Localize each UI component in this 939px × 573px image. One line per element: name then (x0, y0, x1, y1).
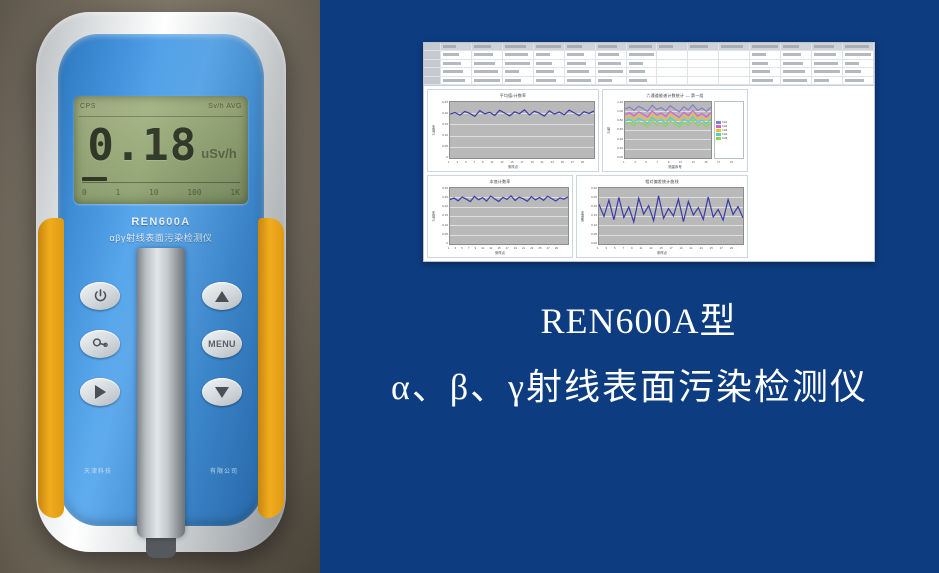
spreadsheet-cell (657, 68, 688, 75)
chart-y-tick: 0.20 (442, 112, 448, 115)
spreadsheet-cell (472, 68, 503, 75)
chart-x-axis-label: 测量序号 (603, 164, 747, 171)
lcd-scale-tick: 1 (115, 188, 120, 197)
spreadsheet-cell (719, 51, 750, 58)
lcd-status-right: Sv/h AVG (208, 103, 242, 110)
spreadsheet-cell (750, 77, 781, 84)
spreadsheet-row (424, 43, 874, 51)
spreadsheet-cell (627, 68, 658, 75)
chart-legend-item: CH3 (716, 129, 742, 132)
spreadsheet-cell (657, 51, 688, 58)
lcd-scale-tick: 1K (230, 188, 240, 197)
chart-y-tick: 0.25 (442, 101, 448, 104)
spreadsheet-cell (565, 51, 596, 58)
spreadsheet-cell (596, 60, 627, 67)
chart-panel: 本底计数率计数率0.300.250.200.150.100.0501357911… (427, 175, 573, 258)
power-button[interactable] (80, 282, 120, 310)
spreadsheet-cell (627, 60, 658, 67)
chart-y-ticks: 1.201.000.800.600.400.200.00 (611, 101, 624, 159)
chart-y-tick: 0.05 (591, 233, 597, 236)
triangle-right-icon (95, 385, 106, 399)
spreadsheet-cell (534, 77, 565, 84)
device-model-label: REN600A (58, 216, 264, 228)
device-chinese-label: αβγ射线表面污染检测仪 (58, 231, 264, 244)
chart-y-tick: 0.15 (442, 123, 448, 126)
chart-plot-area (598, 187, 744, 245)
chart-y-tick: 0.60 (617, 128, 623, 131)
lcd-value: 0.18 (87, 124, 197, 168)
product-photo: CPS Sv/h AVG 0.18 uSv/h 0 1 10 100 1K (0, 0, 320, 573)
spreadsheet-cell (812, 60, 843, 67)
search-button[interactable] (80, 330, 120, 358)
chart-x-axis-label: 采样点 (577, 250, 747, 257)
spreadsheet-cell (627, 43, 658, 50)
lcd-reading: 0.18 uSv/h (82, 118, 242, 174)
lcd-divider (79, 116, 243, 117)
chart-panel: 相对偏差统计曲线偏差率0.300.250.200.150.100.050.001… (576, 175, 748, 258)
chart-y-tick: 0.20 (442, 205, 448, 208)
spreadsheet-cell (472, 51, 503, 58)
spreadsheet-cell (472, 77, 503, 84)
spreadsheet-cell (596, 43, 627, 50)
chart-grid: 平均值/计数率计数率0.250.200.150.100.050135791113… (424, 86, 874, 262)
caption-line-1: REN600A型 (338, 300, 939, 343)
spreadsheet-cell (657, 77, 688, 84)
power-icon (93, 288, 108, 305)
lcd-status-bar: CPS Sv/h AVG (80, 99, 242, 113)
triangle-up-icon (215, 291, 229, 302)
chart-legend-item: CH2 (716, 125, 742, 128)
spreadsheet-cell (534, 60, 565, 67)
chart-y-tick: 0.05 (442, 233, 448, 236)
spreadsheet-cell (750, 43, 781, 50)
chart-title: 平均值/计数率 (428, 90, 598, 99)
chart-y-tick: 0.30 (591, 187, 597, 190)
spreadsheet-row (424, 77, 874, 85)
chart-y-tick: 1.00 (617, 110, 623, 113)
chart-panel: 剂量率曲线剂量率0.300.250.200.150.100.0501357911… (576, 261, 722, 262)
spreadsheet-cell (565, 60, 596, 67)
spreadsheet-cell (812, 77, 843, 84)
software-screenshot-panel: 平均值/计数率计数率0.250.200.150.100.050135791113… (423, 42, 875, 262)
chart-y-tick: 0.30 (442, 187, 448, 190)
lcd-scale-tick: 100 (187, 188, 201, 197)
spreadsheet-row-header (424, 68, 441, 75)
spreadsheet-cell (596, 51, 627, 58)
magnifier-icon (92, 336, 108, 352)
spreadsheet-cell (843, 60, 874, 67)
chart-y-tick: 0.20 (591, 205, 597, 208)
spreadsheet-cell (688, 77, 719, 84)
spreadsheet-cell (565, 77, 596, 84)
spreadsheet-cell (472, 43, 503, 50)
spreadsheet-cell (534, 43, 565, 50)
spreadsheet-cell (441, 77, 472, 84)
spreadsheet-cell (750, 51, 781, 58)
down-button[interactable] (202, 378, 242, 406)
spreadsheet-cell (627, 51, 658, 58)
chart-y-ticks: 0.300.250.200.150.100.050 (436, 187, 449, 245)
spreadsheet-cell (812, 68, 843, 75)
chart-gridline (599, 244, 743, 245)
spreadsheet-cell (441, 68, 472, 75)
chart-y-tick: 0 (446, 156, 448, 159)
spreadsheet-cell (750, 68, 781, 75)
chart-x-axis-label: 采样点 (428, 164, 598, 171)
menu-button[interactable]: MENU (202, 330, 242, 358)
chart-legend: CH1CH2CH3CH4CH5 (714, 101, 744, 159)
spreadsheet-cell (534, 68, 565, 75)
chart-title: 本底计数率 (428, 176, 572, 185)
spreadsheet-cell (441, 60, 472, 67)
spreadsheet-cell (503, 51, 534, 58)
chart-y-tick: 0.10 (442, 134, 448, 137)
spreadsheet-cell (441, 51, 472, 58)
chart-plot-area (449, 101, 595, 159)
chart-y-tick: 0.15 (442, 214, 448, 217)
spreadsheet-cell (843, 77, 874, 84)
spreadsheet-cell (781, 60, 812, 67)
chart-y-ticks: 0.250.200.150.100.050 (436, 101, 449, 159)
chart-panel: 六通道能谱计数统计 — 第一组计数1.201.000.800.600.400.2… (602, 89, 748, 172)
chart-x-axis-label: 采样点 (428, 250, 572, 257)
chart-legend-item: CH5 (716, 137, 742, 140)
slide-canvas: CPS Sv/h AVG 0.18 uSv/h 0 1 10 100 1K (0, 0, 939, 573)
chart-legend-item: CH1 (716, 121, 742, 124)
spreadsheet-cell (503, 43, 534, 50)
lcd-scale-tick: 10 (149, 188, 159, 197)
chart-panel: 多通道累计计数对比计数0.1200.1000.0800.0600.0400.02… (427, 261, 573, 262)
chart-y-tick: 0.20 (617, 147, 623, 150)
spreadsheet-cell (596, 68, 627, 75)
chart-plot-area (449, 187, 569, 245)
chart-y-ticks: 0.300.250.200.150.100.050.00 (585, 187, 598, 245)
device-body: CPS Sv/h AVG 0.18 uSv/h 0 1 10 100 1K (36, 12, 286, 552)
spreadsheet-table (424, 43, 874, 86)
spreadsheet-cell (719, 60, 750, 67)
spreadsheet-cell (781, 77, 812, 84)
spreadsheet-cell (565, 68, 596, 75)
lcd-scale: 0 1 10 100 1K (82, 184, 240, 200)
spreadsheet-cell (781, 51, 812, 58)
caption-line-2: α、β、γ射线表面污染检测仪 (320, 365, 939, 410)
triangle-down-icon (215, 387, 229, 398)
chart-y-tick: 0 (446, 242, 448, 245)
spreadsheet-cell (750, 60, 781, 67)
chart-y-tick: 0.25 (442, 196, 448, 199)
chart-gridline (625, 158, 711, 159)
device-keypad: MENU (58, 278, 264, 428)
spreadsheet-row (424, 51, 874, 59)
spreadsheet-cell (781, 43, 812, 50)
spreadsheet-cell (719, 68, 750, 75)
lcd-status-left: CPS (80, 103, 96, 110)
chart-title: 六通道能谱计数统计 — 第一组 (603, 90, 747, 99)
spreadsheet-cell (534, 51, 565, 58)
chart-y-tick: 0.40 (617, 138, 623, 141)
spreadsheet-cell (596, 77, 627, 84)
chart-gridline (450, 158, 594, 159)
chart-plot-area (624, 101, 712, 159)
play-button[interactable] (80, 378, 120, 406)
lcd-bargraph (82, 176, 240, 183)
chart-y-tick: 0.10 (591, 224, 597, 227)
chart-panel: 平均值/计数率计数率0.250.200.150.100.050135791113… (427, 89, 599, 172)
spreadsheet-cell (688, 68, 719, 75)
slide-caption: REN600A型 α、β、γ射线表面污染检测仪 (320, 300, 939, 410)
spreadsheet-cell (503, 77, 534, 84)
spreadsheet-cell (812, 43, 843, 50)
spreadsheet-cell (781, 68, 812, 75)
device-footnote-left: 天津科技 (84, 466, 112, 475)
spreadsheet-cell (688, 51, 719, 58)
device-footnote-right: 有限公司 (210, 466, 238, 475)
spreadsheet-cell (843, 51, 874, 58)
spreadsheet-cell (565, 43, 596, 50)
device-branding: REN600A αβγ射线表面污染检测仪 (58, 216, 264, 244)
spreadsheet-row-header (424, 77, 441, 84)
spreadsheet-cell (843, 68, 874, 75)
spreadsheet-cell (441, 43, 472, 50)
lcd-scale-tick: 0 (82, 188, 87, 197)
spreadsheet-cell (843, 43, 874, 50)
spreadsheet-cell (657, 43, 688, 50)
spreadsheet-cell (503, 60, 534, 67)
chart-y-tick: 0.05 (442, 145, 448, 148)
spreadsheet-row (424, 68, 874, 76)
spreadsheet-cell (657, 60, 688, 67)
spreadsheet-row-header (424, 43, 441, 50)
spreadsheet-cell (688, 60, 719, 67)
spreadsheet-cell (812, 51, 843, 58)
chart-title: 相对偏差统计曲线 (577, 176, 747, 185)
chart-legend-item: CH4 (716, 133, 742, 136)
spreadsheet-cell (503, 68, 534, 75)
chart-y-tick: 0.15 (591, 214, 597, 217)
chart-y-tick: 0.00 (617, 156, 623, 159)
lcd-unit: uSv/h (201, 146, 236, 161)
chart-y-tick: 0.25 (591, 196, 597, 199)
spreadsheet-cell (719, 43, 750, 50)
spreadsheet-row-header (424, 60, 441, 67)
chart-y-tick: 1.20 (617, 101, 623, 104)
spreadsheet-cell (472, 60, 503, 67)
chart-gridline (450, 244, 568, 245)
spreadsheet-row-header (424, 51, 441, 58)
lcd-screen: CPS Sv/h AVG 0.18 uSv/h 0 1 10 100 1K (74, 96, 248, 204)
spreadsheet-cell (719, 77, 750, 84)
spreadsheet-cell (688, 43, 719, 50)
spreadsheet-row (424, 60, 874, 68)
up-button[interactable] (202, 282, 242, 310)
chart-y-tick: 0.00 (591, 242, 597, 245)
chart-y-tick: 0.80 (617, 119, 623, 122)
spreadsheet-cell (627, 77, 658, 84)
chart-y-tick: 0.10 (442, 224, 448, 227)
